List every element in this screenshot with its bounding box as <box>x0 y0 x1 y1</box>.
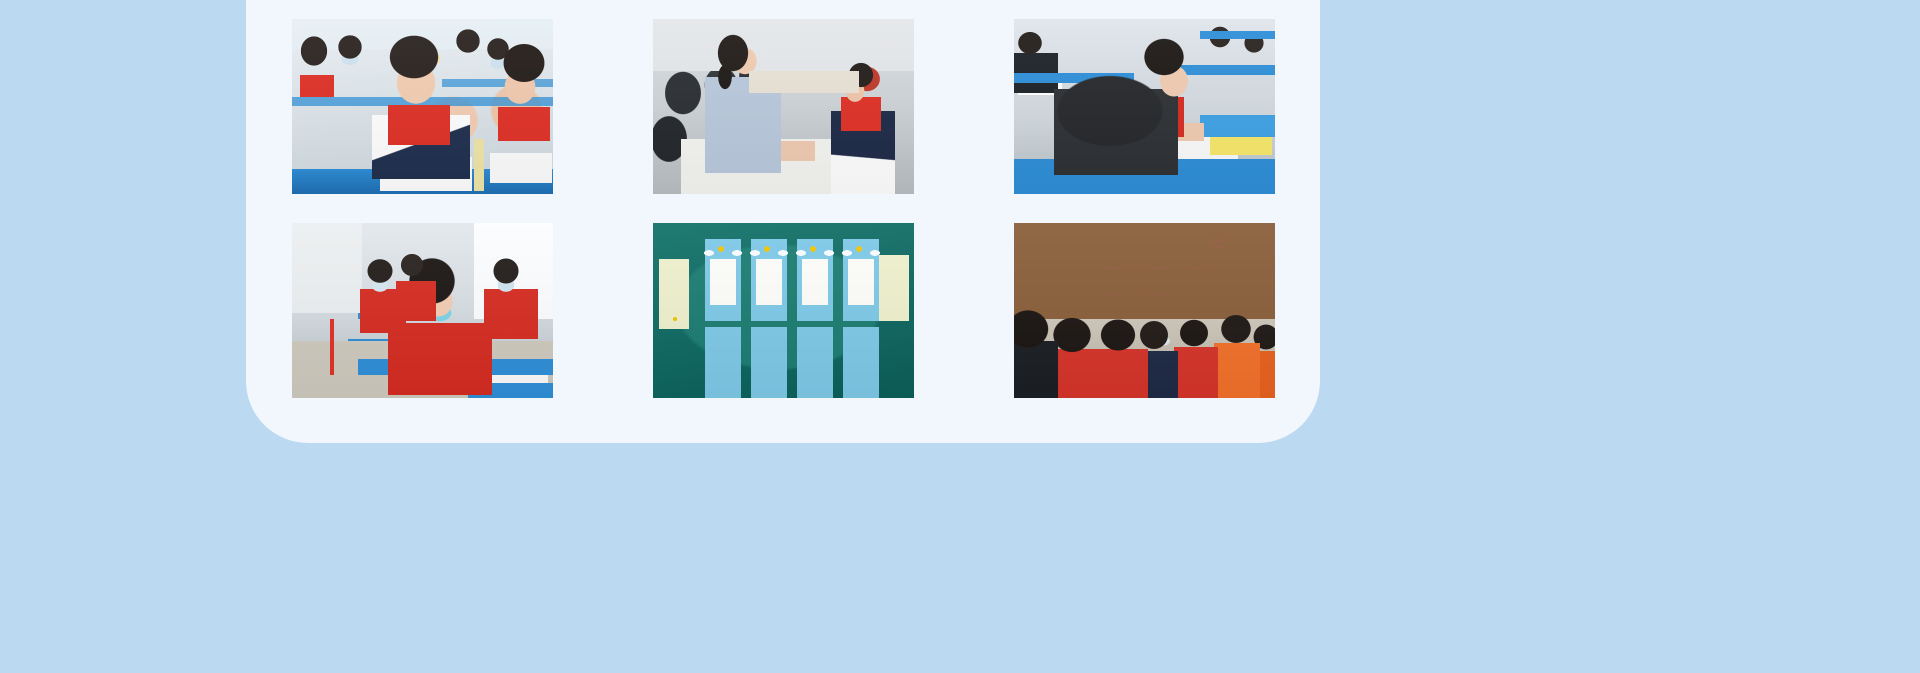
photo-2-image <box>653 19 914 194</box>
photo-1-image <box>292 19 553 194</box>
gallery-photo-4[interactable]: Pupils in red tracksuit jackets wearing … <box>292 223 553 398</box>
photo-3-image <box>1014 19 1275 194</box>
gallery-photo-1[interactable]: Primary school girls in navy and white u… <box>292 19 553 194</box>
photo-gallery-grid: Primary school girls in navy and white u… <box>292 19 1274 398</box>
photo-4-image <box>292 223 553 398</box>
photo-gallery-card: Primary school girls in navy and white u… <box>246 0 1320 443</box>
gallery-photo-5[interactable]: Green display board showing ten mounted … <box>653 223 914 398</box>
gallery-photo-3[interactable]: Boy in a black puffer jacket with a red … <box>1014 19 1275 194</box>
gallery-photo-2[interactable]: Teacher in a light blue striped shirt se… <box>653 19 914 194</box>
photo-5-image <box>653 223 914 398</box>
photo-6-image <box>1014 223 1275 398</box>
gallery-photo-6[interactable]: View from the back of a classroom of pup… <box>1014 223 1275 398</box>
